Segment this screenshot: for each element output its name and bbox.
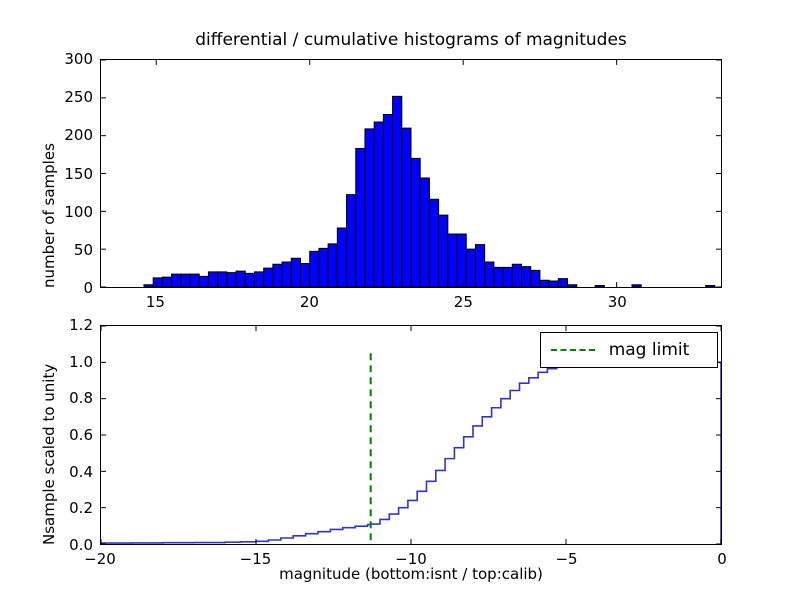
histogram-bar xyxy=(190,274,199,287)
histogram-bar xyxy=(144,285,153,287)
histogram-bar xyxy=(411,158,420,287)
histogram-bar xyxy=(393,96,402,287)
x-tick-label: −20 xyxy=(84,550,116,568)
histogram-bar xyxy=(301,264,310,287)
y-tick-label: 0.2 xyxy=(69,499,93,517)
histogram-bar xyxy=(420,178,429,287)
histogram-bar xyxy=(319,248,328,287)
x-tick-label: −10 xyxy=(395,550,427,568)
bottom-y-axis-label: Nsample scaled to unity xyxy=(40,364,58,545)
histogram-bar xyxy=(475,245,484,287)
histogram-bar xyxy=(402,128,411,287)
cumulative-step-curve xyxy=(101,362,721,544)
histogram-bar xyxy=(273,264,282,287)
legend[interactable]: mag limit xyxy=(540,332,718,368)
histogram-bar xyxy=(347,195,356,287)
histogram-bar xyxy=(218,272,227,287)
histogram-bar xyxy=(512,264,521,287)
y-tick-label: 100 xyxy=(64,203,93,221)
histogram-bar xyxy=(153,278,162,287)
histogram-bar xyxy=(328,244,337,287)
histogram-bar xyxy=(162,277,171,287)
histogram-bar xyxy=(199,276,208,287)
histogram-bar xyxy=(236,271,245,287)
histogram-bar xyxy=(264,268,273,287)
histogram-bar xyxy=(429,199,438,287)
figure-title: differential / cumulative histograms of … xyxy=(100,30,722,50)
y-tick-label: 0 xyxy=(83,279,93,297)
histogram-plot-area xyxy=(101,60,721,287)
y-tick-label: 1.2 xyxy=(69,316,93,334)
histogram-bar xyxy=(383,114,392,287)
histogram-bar xyxy=(558,279,567,287)
histogram-bar xyxy=(356,149,365,287)
legend-dashed-line-icon xyxy=(551,349,595,351)
top-axes-histogram xyxy=(100,59,722,288)
histogram-bar xyxy=(568,285,577,287)
x-tick-label: 15 xyxy=(146,293,165,311)
y-tick-label: 0.6 xyxy=(69,426,93,444)
histogram-bar xyxy=(365,129,374,287)
histogram-bar xyxy=(521,267,530,287)
histogram-bar xyxy=(457,234,466,287)
x-tick-label: −15 xyxy=(240,550,272,568)
x-tick-label: −5 xyxy=(555,550,577,568)
histogram-bar xyxy=(439,215,448,287)
histogram-bar xyxy=(632,285,641,287)
figure-canvas: differential / cumulative histograms of … xyxy=(0,0,800,600)
histogram-bar xyxy=(282,262,291,287)
histogram-bar xyxy=(337,228,346,287)
histogram-bar xyxy=(227,273,236,287)
histogram-bar xyxy=(208,272,217,287)
x-tick-label: 20 xyxy=(300,293,319,311)
histogram-bar xyxy=(494,267,503,287)
histogram-bar xyxy=(172,274,181,287)
histogram-bar xyxy=(540,280,549,287)
histogram-bar xyxy=(448,234,457,287)
x-tick-label: 25 xyxy=(454,293,473,311)
histogram-bar xyxy=(254,272,263,287)
histogram-bar xyxy=(374,122,383,287)
y-tick-label: 0.8 xyxy=(69,389,93,407)
histogram-bar xyxy=(485,262,494,287)
top-y-axis-label: number of samples xyxy=(40,143,58,288)
histogram-bar xyxy=(245,273,254,287)
histogram-bar xyxy=(466,249,475,287)
x-tick-label: 30 xyxy=(608,293,627,311)
histogram-bar xyxy=(503,267,512,287)
histogram-bar xyxy=(181,274,190,287)
legend-label-mag-limit: mag limit xyxy=(595,340,707,360)
y-tick-label: 50 xyxy=(74,241,93,259)
histogram-bar xyxy=(310,251,319,287)
y-tick-label: 200 xyxy=(64,126,93,144)
y-tick-label: 1.0 xyxy=(69,353,93,371)
y-tick-label: 0.4 xyxy=(69,463,93,481)
histogram-bar xyxy=(291,258,300,287)
y-tick-label: 250 xyxy=(64,88,93,106)
histogram-bar xyxy=(531,270,540,287)
histogram-bar xyxy=(595,285,604,287)
y-tick-label: 150 xyxy=(64,165,93,183)
x-tick-label: 0 xyxy=(717,550,727,568)
histogram-bar xyxy=(706,285,715,287)
y-tick-label: 300 xyxy=(64,50,93,68)
histogram-bar xyxy=(549,281,558,287)
